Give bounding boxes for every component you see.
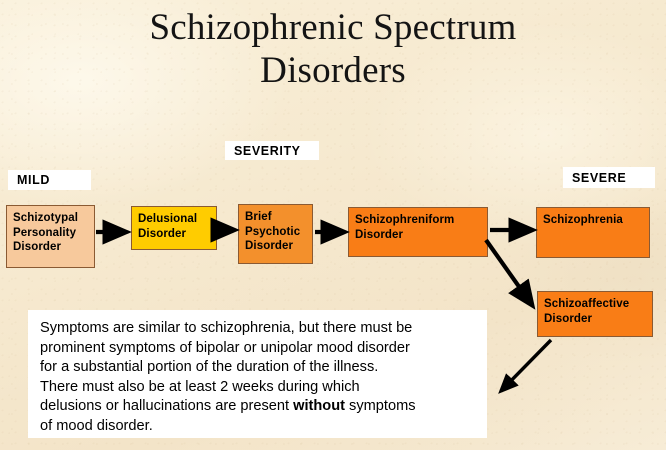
explanation-panel: Symptoms are similar to schizophrenia, b… (28, 310, 487, 438)
explanation-line-5: delusions or hallucinations are present … (40, 397, 477, 417)
mild-end-label: MILD (8, 170, 91, 190)
flow-box-schizophreniform: Schizophreniform Disorder (348, 207, 488, 257)
explanation-line-6: of mood disorder. (40, 417, 477, 437)
severe-end-label-text: SEVERE (572, 171, 626, 185)
flow-box-schizotypal: Schizotypal Personality Disorder (6, 205, 95, 268)
page-title: Schizophrenic Spectrum Disorders (0, 6, 666, 92)
flow-box-brief-psychotic: Brief Psychotic Disorder (238, 204, 313, 264)
severity-axis-label-text: SEVERITY (234, 144, 301, 158)
slide-canvas: Schizophrenic Spectrum Disorders SEVERIT… (0, 0, 666, 450)
explanation-line-5-post: symptoms (345, 398, 416, 414)
explanation-emphasis-without: without (293, 398, 345, 414)
arrow-schizophreniform-to-schizoaffective (486, 240, 532, 305)
explanation-line-4: There must also be at least 2 weeks duri… (40, 378, 477, 398)
flow-box-delusional: Delusional Disorder (131, 206, 217, 250)
arrow-schizoaffective-to-explanation (501, 340, 551, 391)
explanation-line-1: Symptoms are similar to schizophrenia, b… (40, 319, 477, 339)
flow-box-schizophrenia: Schizophrenia (536, 207, 650, 258)
mild-end-label-text: MILD (17, 173, 50, 187)
severity-axis-label: SEVERITY (225, 141, 319, 160)
explanation-line-2: prominent symptoms of bipolar or unipola… (40, 339, 477, 359)
explanation-line-5-pre: delusions or hallucinations are present (40, 398, 293, 414)
explanation-line-3: for a substantial portion of the duratio… (40, 358, 477, 378)
flow-box-schizoaffective: Schizoaffective Disorder (537, 291, 653, 337)
severe-end-label: SEVERE (563, 167, 655, 188)
